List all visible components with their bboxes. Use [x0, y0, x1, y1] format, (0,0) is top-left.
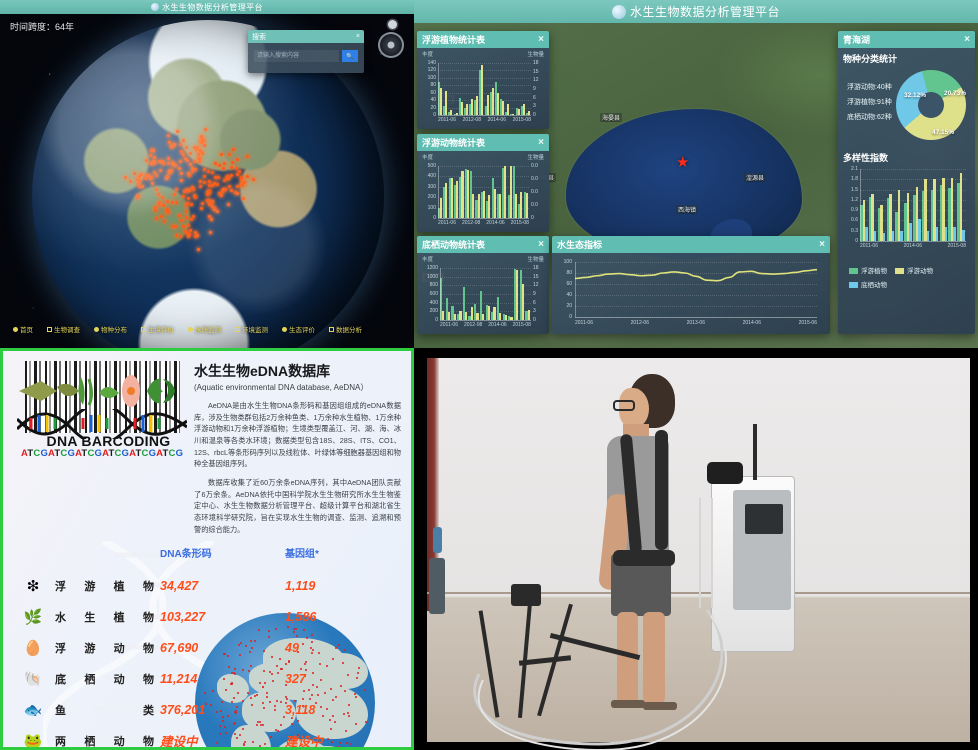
species-hotspot	[152, 149, 155, 152]
legend-swatch	[849, 268, 858, 274]
species-hotspot	[210, 201, 213, 204]
y-tick-label: 1.8	[843, 176, 858, 182]
chart-diversity: 00.30.60.91.21.51.82.12011-062014-062015…	[843, 167, 970, 253]
card-benthos-title: 底栖动物统计表	[422, 238, 485, 251]
sampling-hose	[449, 594, 749, 750]
species-hotspot	[194, 231, 197, 234]
water-quality-icon	[188, 327, 193, 332]
bar	[440, 88, 442, 115]
globe-logo-icon	[612, 5, 626, 19]
species-hotspot	[173, 143, 176, 146]
row-group-name: 两栖动物	[55, 733, 160, 749]
table-header-icon	[11, 545, 55, 560]
nav-item-distribution[interactable]: 物种分布	[87, 324, 134, 334]
species-hotspot	[158, 160, 161, 163]
edna-title-en: (Aquatic environmental DNA database, AeD…	[194, 382, 401, 393]
card-zooplankton[interactable]: 浮游动物统计表 × 丰度 生物量 010020030040050000.00.0…	[417, 134, 549, 232]
species-hotspot	[168, 171, 171, 174]
species-hotspot	[155, 188, 158, 191]
bar	[900, 231, 903, 241]
bar	[440, 198, 442, 218]
x-axis	[438, 115, 531, 116]
map-label: 西海镇	[676, 205, 698, 214]
species-hotspot	[223, 162, 226, 165]
y-tick-label: 0	[843, 238, 858, 244]
species-hotspot	[197, 153, 200, 156]
species-hotspot	[207, 190, 210, 193]
bar-area	[438, 166, 529, 218]
species-hotspot	[138, 185, 141, 188]
species-hotspot	[166, 208, 169, 211]
bar	[471, 307, 473, 320]
globe-panel-title: 水生生物数据分析管理平台	[162, 2, 263, 13]
species-hotspot	[201, 202, 204, 205]
species-hotspot	[221, 190, 224, 193]
card-phytoplankton-body: 丰度 生物量 02040608010012014003691215182011-…	[417, 48, 549, 129]
species-hotspot	[226, 177, 229, 180]
species-hotspot	[241, 184, 244, 187]
species-hotspot	[217, 176, 220, 179]
nav-item-environment[interactable]: 环境监测	[228, 324, 275, 334]
species-hotspot	[180, 179, 183, 182]
species-hotspot	[189, 229, 192, 232]
search-input[interactable]	[254, 50, 339, 62]
species-hotspot	[175, 188, 178, 191]
species-hotspot	[158, 203, 161, 206]
species-hotspot	[203, 144, 206, 147]
bar	[528, 310, 530, 320]
species-hotspot	[167, 157, 170, 160]
species-hotspot	[188, 189, 191, 192]
species-hotspot	[154, 206, 157, 209]
sample-point	[346, 748, 348, 750]
bar	[874, 231, 877, 241]
row-genome-count: 3,118	[285, 703, 395, 717]
globe-panel: 水生生物数据分析管理平台 时间跨度：64年 搜索 × 🔍 首页生物调查物种分布生…	[0, 0, 414, 348]
species-hotspot	[198, 149, 201, 152]
legend-swatch	[895, 268, 904, 274]
species-hotspot	[165, 177, 168, 180]
row-genome-count: 327	[285, 672, 395, 686]
sample-point	[303, 747, 305, 749]
close-icon[interactable]: ×	[964, 34, 970, 45]
legend-item: 浮游动物	[895, 265, 933, 275]
species-hotspot	[191, 170, 194, 173]
y-tick-label: 0.6	[843, 217, 858, 223]
row-genome-count: 49	[285, 641, 395, 655]
legend-item-zooplankton: 浮游动物:40种	[847, 82, 892, 92]
species-hotspot	[213, 207, 216, 210]
bar	[523, 104, 525, 115]
x-axis	[440, 320, 531, 321]
y-axis	[438, 166, 439, 218]
axis-label-left: 丰度	[422, 255, 433, 263]
y-tick-label: 0	[422, 215, 436, 221]
card-benthos[interactable]: 底栖动物统计表 × 丰度 生物量 02004006008001000120003…	[417, 236, 549, 334]
species-hotspot	[211, 205, 214, 208]
y-axis	[438, 63, 439, 115]
species-hotspot	[137, 194, 140, 197]
x-tick-label: 2015-08	[513, 322, 531, 328]
species-hotspot	[193, 160, 196, 163]
species-hotspot	[145, 174, 148, 177]
species-hotspot	[241, 182, 244, 185]
x-tick-label: 2011-06	[438, 220, 456, 226]
y-tick-label: 1200	[422, 265, 438, 271]
species-hotspot	[150, 149, 153, 152]
species-hotspot	[218, 192, 221, 195]
nav-item-water-quality[interactable]: 水质监测	[181, 324, 228, 334]
species-hotspot	[216, 210, 219, 213]
bar	[497, 93, 499, 115]
line-series	[557, 259, 825, 329]
bar	[493, 307, 495, 320]
y2-tick-label: 0	[533, 112, 544, 118]
aquatic-plant-icon: 🌿	[11, 608, 55, 626]
y2-tick-label: 12	[533, 77, 544, 83]
globe-stage: 时间跨度：64年 搜索 × 🔍 首页生物调查物种分布生境评价水质监测环境监测生态…	[0, 14, 414, 348]
species-hotspot	[242, 197, 245, 200]
species-hotspot	[186, 189, 189, 192]
star-marker-icon[interactable]: ★	[676, 153, 689, 171]
y2-tick-label: 0.0	[531, 176, 544, 182]
card-region-stats[interactable]: 青海湖 × 物种分类统计 20.73% 47.15% 32.12% 浮游动物:4…	[838, 31, 975, 334]
card-zooplankton-body: 丰度 生物量 010020030040050000.00.00.00.02011…	[417, 151, 549, 232]
card-ecology-body: 0204060801002011-062012-062013-062014-06…	[552, 253, 830, 334]
species-hotspot	[199, 185, 202, 188]
edna-title-cn: 水生生物eDNA数据库	[194, 361, 401, 381]
species-hotspot	[227, 177, 230, 180]
species-hotspot	[213, 182, 216, 185]
species-hotspot	[236, 185, 239, 188]
species-hotspot	[179, 235, 182, 238]
species-hotspot	[170, 145, 173, 148]
species-hotspot	[199, 140, 202, 143]
species-hotspot	[186, 202, 189, 205]
nav-item-habitat[interactable]: 生境评价	[134, 324, 181, 334]
close-icon[interactable]: ×	[538, 239, 544, 250]
x-tick-label: 2014-06	[904, 243, 922, 249]
species-hotspot	[162, 204, 165, 207]
y2-tick-label: 18	[533, 60, 544, 66]
species-hotspot	[186, 189, 189, 192]
y-tick-label: 80	[422, 82, 436, 88]
bar	[466, 104, 468, 115]
y-tick-label: 0.3	[843, 228, 858, 234]
survey-icon	[47, 327, 52, 332]
species-hotspot	[228, 185, 231, 188]
axis-label-left: 丰度	[422, 153, 433, 161]
species-hotspot	[144, 177, 147, 180]
row-barcode-count: 11,214	[160, 672, 285, 686]
x-tick-label: 2015-08	[513, 117, 531, 123]
species-hotspot	[167, 162, 170, 165]
legend-label: 浮游植物	[861, 268, 887, 275]
bar	[445, 183, 447, 218]
species-hotspot	[211, 184, 214, 187]
y-tick-label: 400	[422, 300, 438, 306]
x-tick-label: 2015-08	[511, 220, 529, 226]
species-hotspot	[246, 175, 249, 178]
y-tick-label: 400	[422, 173, 436, 179]
species-hotspot	[167, 211, 170, 214]
species-hotspot	[199, 180, 202, 183]
species-hotspot	[133, 172, 136, 175]
legend-item-benthos: 底栖动物:62种	[847, 112, 892, 122]
species-hotspot	[166, 200, 169, 203]
species-hotspot	[191, 186, 194, 189]
species-hotspot	[190, 218, 193, 221]
x-tick-label: 2014-06	[488, 117, 506, 123]
y2-tick-label: 0.0	[531, 163, 544, 169]
species-hotspot	[200, 136, 203, 139]
dna-barcode-logo: DNA BARCODING ATCGATCGATCGATCGATCGATCG	[11, 359, 186, 455]
bar	[883, 233, 886, 241]
species-hotspot	[195, 148, 198, 151]
x-tick-label: 2014-06	[486, 220, 504, 226]
species-hotspot	[171, 161, 174, 164]
species-hotspot	[171, 201, 174, 204]
edna-text-block: 水生生物eDNA数据库 (Aquatic environmental DNA d…	[194, 359, 401, 535]
species-hotspot	[201, 139, 204, 142]
x-tick-label: 2011-06	[438, 117, 456, 123]
y2-tick-label: 15	[533, 69, 544, 75]
y-tick-label: 20	[422, 105, 436, 111]
y-tick-label: 200	[422, 194, 436, 200]
table-row: 🥚浮游动物67,69049	[11, 632, 411, 663]
x-tick-label: 2012-08	[464, 322, 482, 328]
y2-tick-label: 6	[533, 300, 544, 306]
species-hotspot	[240, 176, 243, 179]
diversity-legend: 浮游植物浮游动物底栖动物	[843, 265, 970, 289]
species-hotspot	[151, 182, 154, 185]
species-hotspot	[191, 167, 194, 170]
species-hotspot	[200, 141, 203, 144]
nav-item-label: 生物调查	[54, 324, 80, 334]
x-tick-label: 2015-08	[948, 243, 966, 249]
map-dashboard-panel: 水生生物数据分析管理平台 ★ 德令哈刚察县海晏县共和县西海镇湟源县天峻县茶卡 浮…	[414, 0, 978, 348]
edna-stats-table: DNA条形码 基因组* ❇浮游植物34,4271,119🌿水生植物103,227…	[11, 545, 411, 750]
photo-scene	[427, 358, 970, 742]
species-hotspot	[187, 172, 190, 175]
species-hotspot	[171, 145, 174, 148]
y-tick-label: 600	[422, 291, 438, 297]
y-axis	[575, 262, 576, 317]
bar	[459, 311, 461, 320]
species-hotspot	[174, 164, 177, 167]
home-icon	[13, 327, 18, 332]
species-hotspot	[157, 193, 160, 196]
close-icon[interactable]: ×	[538, 34, 544, 45]
species-hotspot	[232, 148, 235, 151]
edna-stats-area: DNA条形码 基因组* ❇浮游植物34,4271,119🌿水生植物103,227…	[11, 545, 403, 750]
y-tick-label: 800	[422, 282, 438, 288]
row-barcode-count: 103,227	[160, 610, 285, 624]
species-hotspot	[152, 161, 155, 164]
species-hotspot	[197, 157, 200, 160]
search-icon[interactable]: 🔍	[342, 50, 358, 62]
species-hotspot	[168, 170, 171, 173]
bar	[488, 306, 490, 320]
species-hotspot	[185, 204, 188, 207]
species-hotspot	[186, 159, 189, 162]
y2-tick-label: 12	[533, 282, 544, 288]
amphibian-icon: 🐸	[11, 732, 55, 750]
species-hotspot	[149, 177, 152, 180]
benthos-icon: 🐚	[11, 670, 55, 688]
table-row: 🐟鱼 类376,2013,118	[11, 694, 411, 725]
species-hotspot	[162, 162, 165, 165]
sample-point	[231, 747, 233, 749]
y-tick-label: 500	[422, 163, 436, 169]
x-tick-label: 2014-06	[488, 322, 506, 328]
bar	[962, 230, 965, 241]
bar	[461, 102, 463, 115]
species-hotspot	[194, 168, 197, 171]
species-hotspot	[238, 170, 241, 173]
bar	[927, 231, 930, 241]
x-tick-labels: 2011-062012-082014-062015-08	[438, 220, 529, 226]
chart-ecology-index: 0204060801002011-062012-062013-062014-06…	[557, 259, 825, 329]
row-barcode-count: 34,427	[160, 579, 285, 593]
bar	[504, 166, 506, 218]
table-row: 🌿水生植物103,2271,586	[11, 601, 411, 632]
chart-phytoplankton: 02040608010012014003691215182011-062012-…	[422, 61, 544, 127]
bar-area	[440, 268, 531, 320]
row-genome-count: 建设中	[285, 731, 395, 750]
species-hotspot	[182, 195, 185, 198]
bar	[865, 227, 868, 241]
search-panel-body: 🔍	[248, 43, 364, 73]
card-zooplankton-title: 浮游动物统计表	[422, 136, 485, 149]
species-hotspot	[213, 208, 216, 211]
bar	[471, 99, 473, 115]
species-hotspot	[184, 157, 187, 160]
y2-tick-label: 18	[533, 265, 544, 271]
bar	[494, 189, 496, 218]
card-phytoplankton[interactable]: 浮游植物统计表 × 丰度 生物量 02040608010012014003691…	[417, 31, 549, 129]
species-hotspot	[199, 150, 202, 153]
search-panel-header: 搜索 ×	[248, 30, 364, 43]
close-icon[interactable]: ×	[356, 33, 360, 40]
card-ecology-index[interactable]: 水生态指标 × 0204060801002011-062012-062013-0…	[552, 236, 830, 334]
search-panel-title: 搜索	[252, 32, 266, 42]
x-tick-labels: 2011-062014-062015-08	[860, 243, 966, 249]
species-hotspot	[198, 157, 201, 160]
y-axis	[440, 268, 441, 320]
nav-item-analysis[interactable]: 数据分析	[322, 324, 369, 334]
y-tick-label: 200	[422, 308, 438, 314]
table-header-row: DNA条形码 基因组*	[11, 545, 411, 570]
y-tick-label: 1000	[422, 274, 438, 280]
map-label: 湟源县	[744, 173, 766, 182]
bar	[499, 194, 501, 218]
x-axis	[860, 241, 966, 242]
species-hotspot	[180, 172, 183, 175]
species-hotspot	[196, 146, 199, 149]
phytoplankton-icon: ❇	[11, 577, 55, 595]
species-hotspot	[161, 160, 164, 163]
x-tick-label: 2015-06	[799, 320, 817, 326]
bar-area	[438, 63, 531, 115]
close-icon[interactable]: ×	[538, 137, 544, 148]
species-hotspot	[210, 218, 213, 221]
diversity-index-title: 多样性指数	[838, 147, 975, 165]
y2-tick-label: 3	[533, 103, 544, 109]
gear-icon[interactable]	[388, 20, 397, 29]
x-tick-label: 2011-06	[575, 320, 593, 326]
bar	[510, 166, 512, 218]
nav-item-ecology[interactable]: 生态评价	[275, 324, 322, 334]
bar	[909, 223, 912, 241]
species-hotspot	[189, 163, 192, 166]
search-panel[interactable]: 搜索 × 🔍	[248, 30, 364, 73]
compass-icon[interactable]	[378, 32, 404, 58]
species-hotspot	[197, 248, 200, 251]
bar	[936, 227, 939, 241]
species-hotspot	[204, 128, 207, 131]
species-hotspot	[208, 190, 211, 193]
bar	[526, 193, 528, 218]
y-tick-label: 2.1	[843, 166, 858, 172]
map-label: 海晏县	[600, 113, 622, 122]
species-hotspot	[222, 167, 225, 170]
nav-item-survey[interactable]: 生物调查	[40, 324, 87, 334]
card-ecology-header: 水生态指标 ×	[552, 236, 830, 253]
species-hotspot	[192, 215, 195, 218]
species-hotspot	[175, 201, 178, 204]
x-axis	[438, 218, 529, 219]
nav-item-home[interactable]: 首页	[6, 324, 40, 334]
bar	[483, 191, 485, 218]
species-hotspot	[236, 192, 239, 195]
species-hotspot	[236, 158, 239, 161]
species-hotspot	[178, 214, 181, 217]
species-hotspot	[192, 188, 195, 191]
table-row: 🐸两栖动物建设中建设中	[11, 725, 411, 750]
water-bottle	[433, 527, 442, 553]
species-hotspot	[208, 203, 211, 206]
card-phytoplankton-title: 浮游植物统计表	[422, 33, 485, 46]
row-barcode-count: 67,690	[160, 641, 285, 655]
species-hotspot	[153, 156, 156, 159]
species-hotspot	[211, 171, 214, 174]
species-hotspot	[201, 152, 204, 155]
species-hotspot	[124, 176, 127, 179]
species-hotspot	[185, 216, 188, 219]
card-benthos-body: 丰度 生物量 020040060080010001200036912151820…	[417, 253, 549, 334]
pie-legend: 浮游动物:40种 浮游植物:91种 底栖动物:62种	[847, 82, 892, 127]
y2-tick-label: 15	[533, 274, 544, 280]
bar	[445, 91, 447, 115]
species-hotspot	[161, 196, 164, 199]
x-tick-label: 2014-06	[743, 320, 761, 326]
x-tick-label: 2011-06	[440, 322, 458, 328]
species-hotspot	[182, 153, 185, 156]
species-hotspot	[203, 181, 206, 184]
globe-bottom-nav: 首页生物调查物种分布生境评价水质监测环境监测生态评价数据分析	[0, 322, 414, 336]
row-group-name: 水生植物	[55, 609, 160, 625]
y-tick-label: 0	[422, 317, 438, 323]
close-icon[interactable]: ×	[819, 239, 825, 250]
species-hotspot	[206, 199, 209, 202]
species-hotspot	[152, 162, 155, 165]
y2-tick-label: 3	[533, 308, 544, 314]
axis-label-left: 丰度	[422, 50, 433, 58]
species-hotspot	[234, 191, 237, 194]
row-genome-count: 1,586	[285, 610, 395, 624]
species-hotspot	[207, 191, 210, 194]
